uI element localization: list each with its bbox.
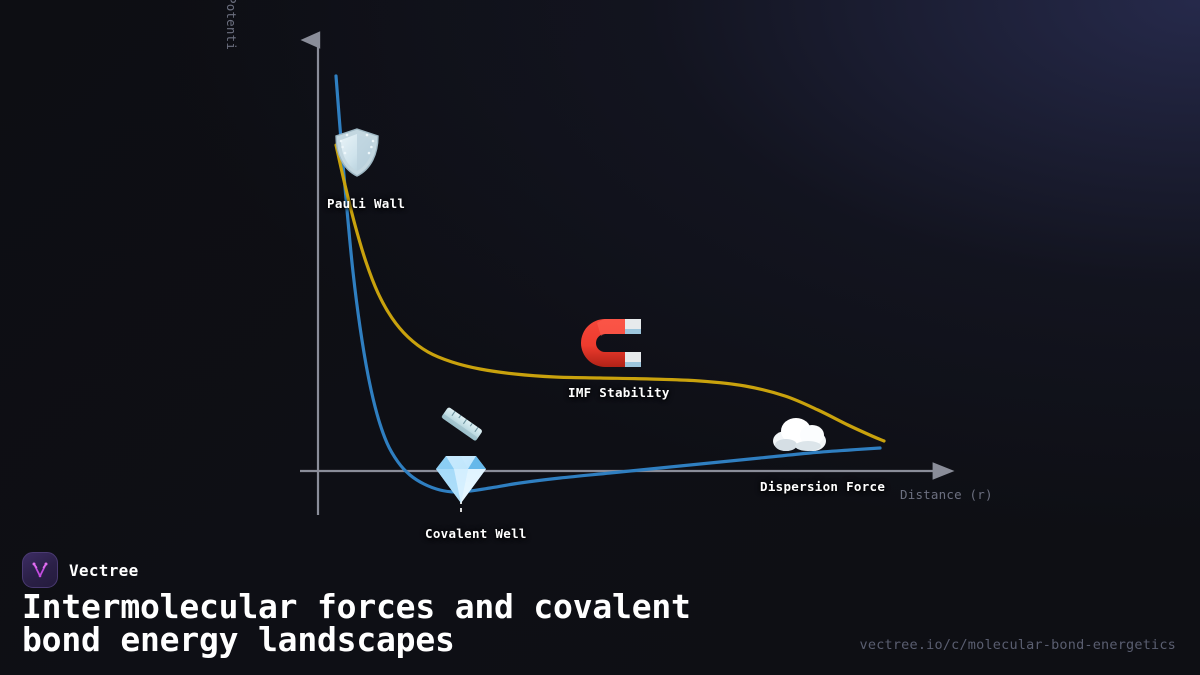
chart-canvas: Potenti Distance (r) Pauli Wall IMF Stab… <box>0 0 1200 540</box>
ruler-icon <box>441 407 483 442</box>
annotation-label-covalent-well: Covalent Well <box>425 526 527 541</box>
cloud-icon <box>773 418 826 451</box>
footer: Vectree Intermolecular forces and covale… <box>0 540 1200 675</box>
headline: Intermolecular forces and covalent bond … <box>22 590 822 656</box>
x-axis-label: Distance (r) <box>900 487 993 502</box>
brand-row: Vectree <box>22 552 139 588</box>
vectree-logo-icon <box>22 552 58 588</box>
y-axis-label: Potenti <box>224 0 239 50</box>
annotation-label-pauli-wall: Pauli Wall <box>327 196 405 211</box>
plot-svg <box>0 0 1200 540</box>
magnet-icon <box>581 319 641 367</box>
diamond-icon <box>436 456 486 503</box>
brand-name: Vectree <box>69 561 139 580</box>
footer-url: vectree.io/c/molecular-bond-energetics <box>860 637 1176 653</box>
annotation-label-imf-stability: IMF Stability <box>568 385 670 400</box>
annotation-label-dispersion-force: Dispersion Force <box>760 479 885 494</box>
